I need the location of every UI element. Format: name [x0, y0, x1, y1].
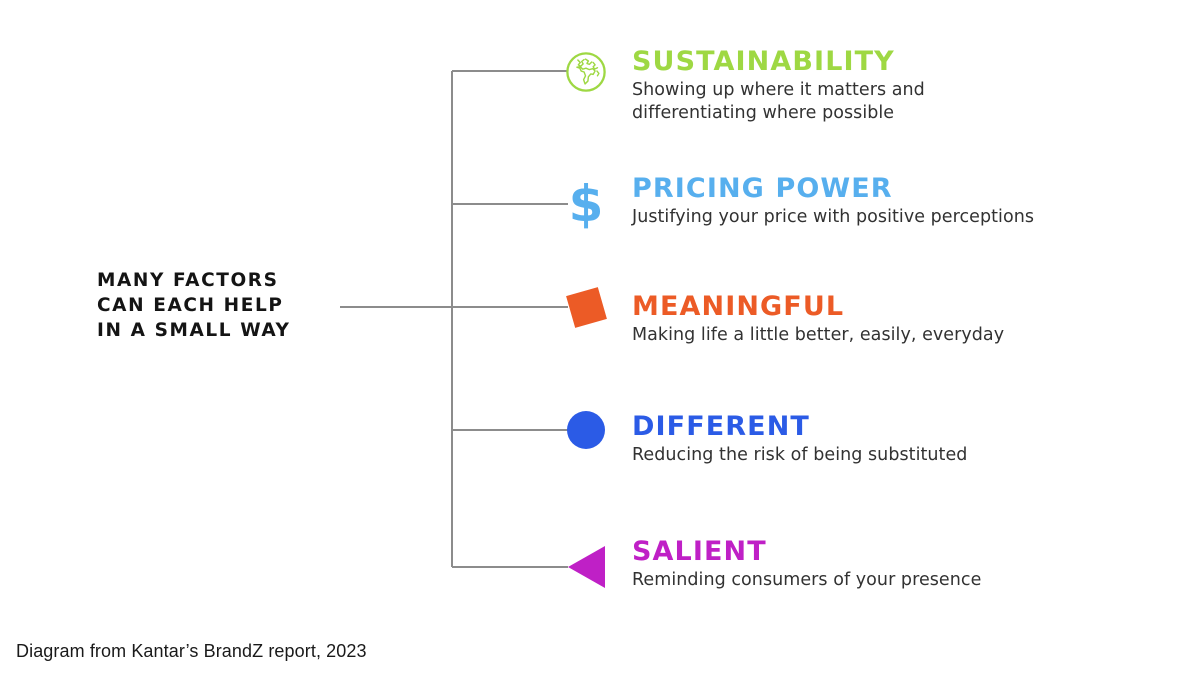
factor-title-pricing-power: PRICING POWER	[632, 174, 1192, 203]
factor-description-meaningful: Making life a little better, easily, eve…	[632, 324, 1192, 347]
dollar-sign-icon: $	[556, 174, 616, 234]
left-headline: MANY FACTORS CAN EACH HELP IN A SMALL WA…	[97, 268, 337, 343]
factor-description-salient: Reminding consumers of your presence	[632, 569, 1192, 592]
factor-description-line: Reducing the risk of being substituted	[632, 444, 1192, 467]
factor-title-meaningful: MEANINGFUL	[632, 292, 1192, 321]
factor-description-line: Making life a little better, easily, eve…	[632, 324, 1192, 347]
left-headline-line-2: CAN EACH HELP	[97, 293, 337, 318]
factor-description-line: Reminding consumers of your presence	[632, 569, 1192, 592]
factor-text-different: DIFFERENT Reducing the risk of being sub…	[632, 412, 1192, 467]
dollar-sign-glyph: $	[569, 182, 604, 226]
factor-text-pricing-power: PRICING POWER Justifying your price with…	[632, 174, 1192, 229]
diamond-icon	[556, 277, 616, 337]
factor-description-line: differentiating where possible	[632, 102, 1192, 125]
circle-icon	[556, 400, 616, 460]
factor-description-sustainability: Showing up where it matters and differen…	[632, 79, 1192, 124]
factor-description-different: Reducing the risk of being substituted	[632, 444, 1192, 467]
left-headline-line-3: IN A SMALL WAY	[97, 318, 337, 343]
factor-text-meaningful: MEANINGFUL Making life a little better, …	[632, 292, 1192, 347]
factor-title-sustainability: SUSTAINABILITY	[632, 47, 1192, 76]
globe-icon	[556, 42, 616, 102]
factor-title-different: DIFFERENT	[632, 412, 1192, 441]
diamond-shape	[566, 287, 607, 328]
factors-diagram: MANY FACTORS CAN EACH HELP IN A SMALL WA…	[0, 0, 1200, 675]
factor-description-pricing-power: Justifying your price with positive perc…	[632, 206, 1192, 229]
source-caption: Diagram from Kantar’s BrandZ report, 202…	[16, 640, 367, 662]
factor-text-sustainability: SUSTAINABILITY Showing up where it matte…	[632, 47, 1192, 124]
triangle-shape	[568, 546, 605, 588]
triangle-left-icon	[556, 537, 616, 597]
factor-text-salient: SALIENT Reminding consumers of your pres…	[632, 537, 1192, 592]
factor-description-line: Justifying your price with positive perc…	[632, 206, 1192, 229]
left-headline-line-1: MANY FACTORS	[97, 268, 337, 293]
factor-title-salient: SALIENT	[632, 537, 1192, 566]
factor-description-line: Showing up where it matters and	[632, 79, 1192, 102]
circle-shape	[567, 411, 605, 449]
